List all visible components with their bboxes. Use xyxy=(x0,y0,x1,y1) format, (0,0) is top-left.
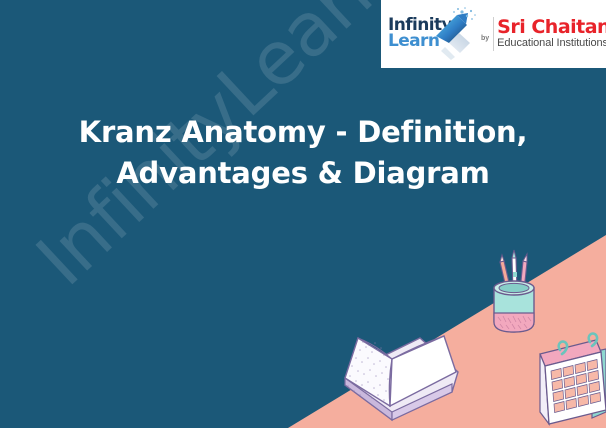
title-line-2: Advantages & Diagram xyxy=(0,153,606,194)
logo-divider xyxy=(493,17,494,51)
logo-learn-text: Learn xyxy=(388,34,477,50)
pencil-salmon xyxy=(500,255,511,292)
infinity-learn-logo[interactable]: Infinity Learn xyxy=(381,5,477,63)
sri-chaitanya-logo[interactable]: Sri Chaitanya Educational Institutions xyxy=(497,18,606,50)
brand-logo-panel[interactable]: Infinity Learn xyxy=(381,0,606,68)
title-line-1: Kranz Anatomy - Definition, xyxy=(0,112,606,153)
pencil-teal xyxy=(512,250,517,291)
logo-by-text: by xyxy=(477,35,493,42)
page-title: Kranz Anatomy - Definition, Advantages &… xyxy=(0,112,606,194)
logo-sri-chaitanya-text: Sri Chaitanya xyxy=(497,18,606,37)
logo-educational-institutions-text: Educational Institutions xyxy=(497,37,606,50)
poster-canvas: InfinityLearn.com xyxy=(0,0,606,428)
